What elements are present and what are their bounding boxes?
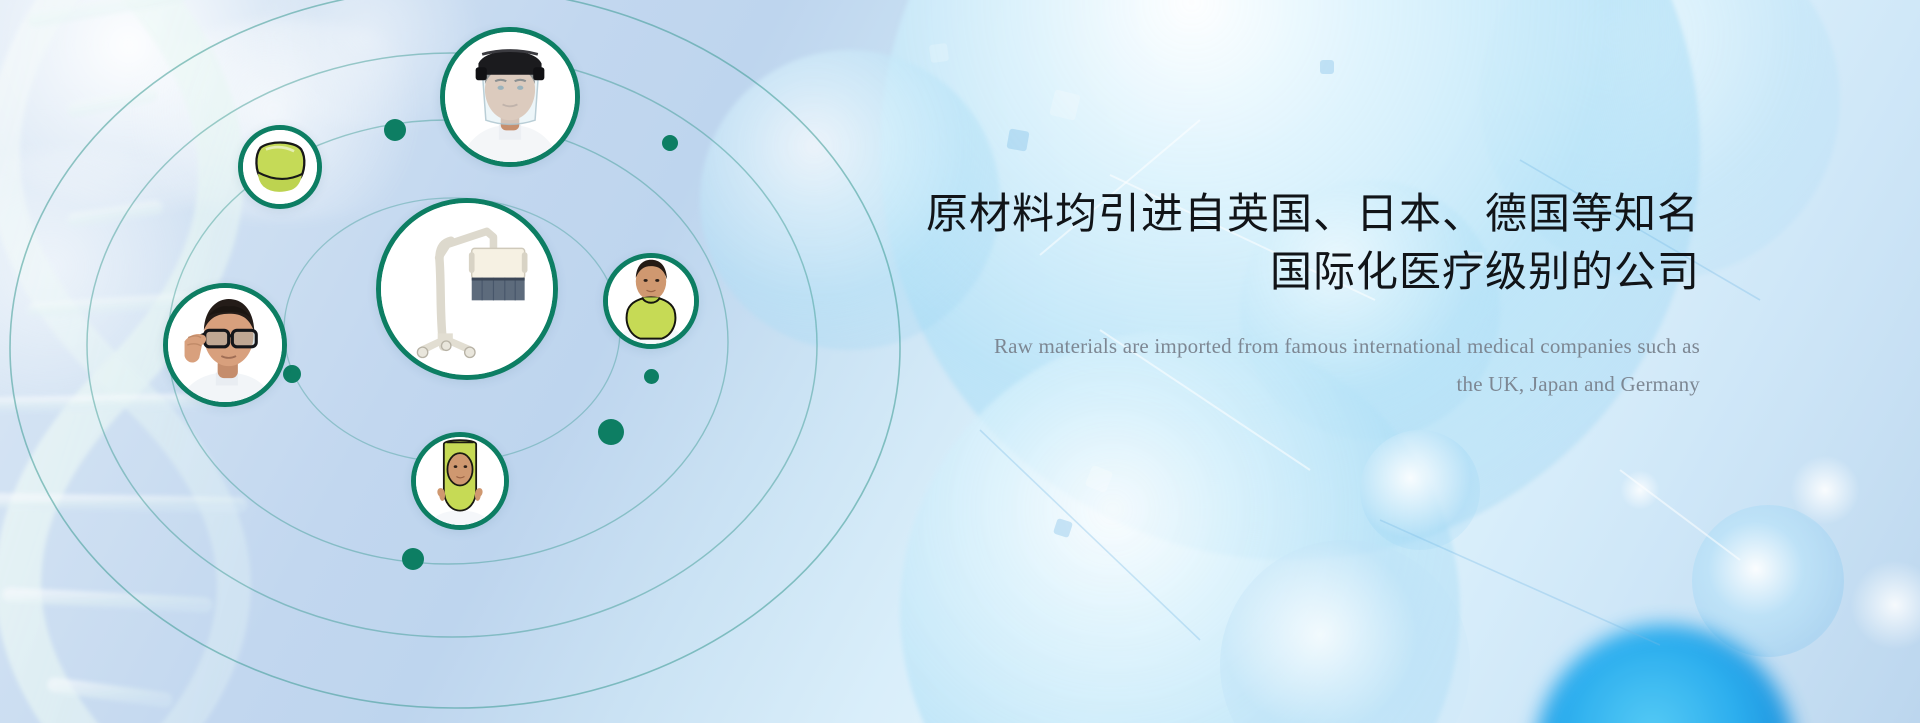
decor-tile [1053, 518, 1073, 538]
lead-cap-photo [243, 130, 317, 204]
decor-tile [1085, 465, 1114, 494]
light-highlight [1850, 560, 1920, 650]
orbit-dot [402, 548, 424, 570]
bubble-man-face-shield[interactable] [440, 27, 580, 167]
subheadline-line-1: Raw materials are imported from famous i… [900, 327, 1700, 365]
molecule-sphere [1360, 430, 1480, 550]
decor-tile [1320, 60, 1334, 74]
bubble-man-leaded-glasses[interactable] [163, 283, 287, 407]
mobile-x-ray-shield-photo [381, 203, 553, 375]
orbit-dot [598, 419, 624, 445]
light-highlight [1790, 455, 1860, 525]
headline-block: 原材料均引进自英国、日本、德国等知名 国际化医疗级别的公司 Raw materi… [900, 185, 1700, 403]
headline-line-1: 原材料均引进自英国、日本、德国等知名 [900, 185, 1700, 243]
man-leaded-glasses-photo [168, 288, 282, 402]
decor-tile [1006, 128, 1029, 151]
molecule-sphere [1692, 505, 1844, 657]
molecule-sphere [1220, 540, 1470, 723]
headline-line-2: 国际化医疗级别的公司 [900, 243, 1700, 301]
bubble-lead-cap[interactable] [238, 125, 322, 209]
molecule-sphere-accent [1535, 625, 1795, 723]
orbit-dot [384, 119, 406, 141]
hero-banner: 原材料均引进自英国、日本、德国等知名 国际化医疗级别的公司 Raw materi… [0, 0, 1920, 723]
decor-tile [1049, 89, 1081, 121]
woman-protective-hood-photo [416, 437, 504, 525]
light-highlight [1620, 470, 1660, 510]
orbit-dot [662, 135, 678, 151]
bubble-woman-thyroid-collar[interactable] [603, 253, 699, 349]
man-face-shield-photo [445, 32, 575, 162]
woman-thyroid-collar-photo [608, 258, 694, 344]
bubble-woman-protective-hood[interactable] [411, 432, 509, 530]
subheadline-line-2: the UK, Japan and Germany [900, 365, 1700, 403]
bubble-mobile-x-ray-shield[interactable] [376, 198, 558, 380]
orbit-dot [644, 369, 659, 384]
orbit-dot [283, 365, 301, 383]
